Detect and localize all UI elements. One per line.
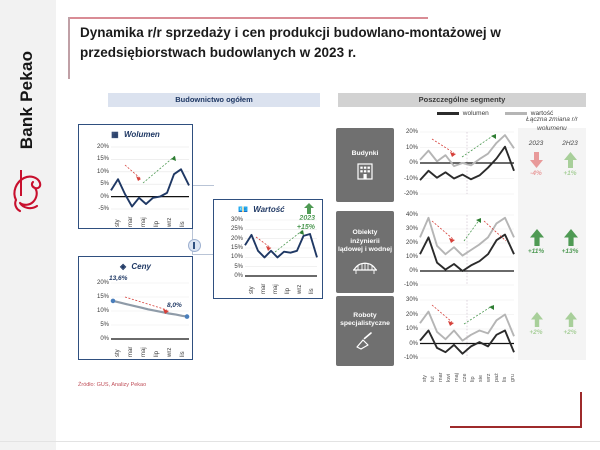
y-axis-segment-inzynieria: 40% 30% 20% 10% 0% -10%: [396, 215, 418, 285]
segment-label-specjalistyczne: Roboty specjalistyczne: [336, 296, 394, 366]
y-axis-segment-specjalistyczne: 30% 20% 10% 0% -10%: [396, 300, 418, 358]
summary-value-specjalistyczne-2023: +2%: [519, 329, 553, 336]
plot-ceny: [111, 283, 189, 339]
plot-segment-inzynieria: [420, 215, 514, 285]
y-axis-ceny: 20% 15% 10% 5% 0%: [81, 283, 109, 339]
chart-title-wartosc: 💶 Wartość: [214, 205, 346, 214]
summary-arrow-up-inzynieria-2023: [530, 229, 544, 246]
section-header-right: Poszczególne segmenty: [338, 93, 586, 107]
summary-arrow-up-budynki-2h23: [564, 152, 577, 168]
summary-value-budynki-2h23: +1%: [553, 170, 587, 177]
bottom-rule: [0, 441, 600, 442]
brand-logo: Bank Pekao: [0, 18, 56, 218]
plot-segment-budynki: [420, 132, 514, 194]
chart-title-wolumen: ▦ Wolumen: [79, 130, 192, 139]
source-note: Źródło: GUS, Analizy Pekao: [78, 382, 146, 388]
x-axis-ceny: sty mar maj lip wrz lis: [111, 341, 189, 359]
tag-icon: ◈: [120, 262, 126, 271]
callout-up-arrow-icon: [304, 203, 314, 214]
summary-arrow-up-specjalistyczne-2023: [531, 312, 543, 327]
chart-segment-budynki: 20% 10% 0% -10% -20%: [396, 128, 516, 202]
legend-item-wolumen: wolumen: [437, 110, 489, 117]
legend-swatch-wartosc: [505, 112, 527, 114]
summary-title: Łączna zmiana r/r wolumenu: [518, 116, 586, 134]
summary-col-2h23: 2H23: [553, 140, 587, 147]
plot-segment-specjalistyczne: [420, 300, 514, 358]
page-title: Dynamika r/r sprzedaży i cen produkcji b…: [80, 23, 550, 62]
legend-swatch-wolumen: [437, 112, 459, 114]
bison-logo-icon: [10, 170, 46, 216]
bridge-icon: [353, 259, 377, 275]
brand-rail: Bank Pekao: [0, 0, 56, 450]
plot-wolumen: [111, 147, 189, 209]
segment-label-inzynieria: Obiekty inżynierii lądowej i wodnej: [336, 211, 394, 293]
x-axis-wolumen: sty mar maj lip wrz lis: [111, 211, 189, 229]
summary-arrow-down-budynki-2023: [530, 152, 543, 168]
plot-wartosc: [245, 220, 317, 276]
summary-arrow-up-specjalistyczne-2h23: [565, 312, 577, 327]
chart-card-wartosc: 💶 Wartość 2023 +15% 30% 25% 20% 15% 10% …: [213, 199, 323, 299]
title-accent-bar: [68, 17, 70, 79]
summary-value-specjalistyczne-2h23: +2%: [553, 329, 587, 336]
summary-value-inzynieria-2023: +11%: [519, 248, 553, 255]
x-axis-wartosc: sty mar maj lip wrz lis: [245, 278, 317, 296]
building-icon: [356, 162, 374, 180]
summary-value-inzynieria-2h23: +13%: [553, 248, 587, 255]
data-label-price-start: 13,6%: [109, 275, 127, 282]
summary-col-2023: 2023: [519, 140, 553, 147]
segment-label-budynki: Budynki: [336, 128, 394, 202]
connector-node: [188, 239, 201, 252]
summary-value-budynki-2023: -4%: [519, 170, 553, 177]
trowel-icon: [355, 332, 375, 350]
chart-card-wolumen: ▦ Wolumen 20% 15% 10% 5% 0% -5%: [78, 124, 193, 229]
section-header-left: Budownictwo ogółem: [108, 93, 320, 107]
summary-arrow-up-inzynieria-2h23: [564, 229, 578, 246]
stack-icon: ▦: [111, 130, 119, 139]
y-axis-wartosc: 30% 25% 20% 15% 10% 5% 0%: [215, 220, 243, 276]
brand-name: Bank Pekao: [17, 15, 37, 185]
chart-title-ceny: ◈ Ceny: [79, 262, 192, 271]
y-axis-segment-budynki: 20% 10% 0% -10% -20%: [396, 132, 418, 194]
chart-card-ceny: ◈ Ceny 20% 15% 10% 5% 0% 13,6% 8,0%: [78, 256, 193, 360]
slide: Bank Pekao Dynamika r/r sprzedaży i cen …: [0, 0, 600, 450]
x-axis-segments: sty lut mar kwi maj cze lip sie wrz paź …: [420, 360, 514, 384]
money-icon: 💶: [238, 205, 248, 214]
corner-decoration: [450, 392, 582, 428]
y-axis-wolumen: 20% 15% 10% 5% 0% -5%: [81, 147, 109, 209]
chart-segment-inzynieria: 40% 30% 20% 10% 0% -10%: [396, 211, 516, 293]
chart-segment-specjalistyczne: 30% 20% 10% 0% -10% sty lut mar kwi ma: [396, 296, 516, 366]
title-rule: [68, 17, 428, 19]
